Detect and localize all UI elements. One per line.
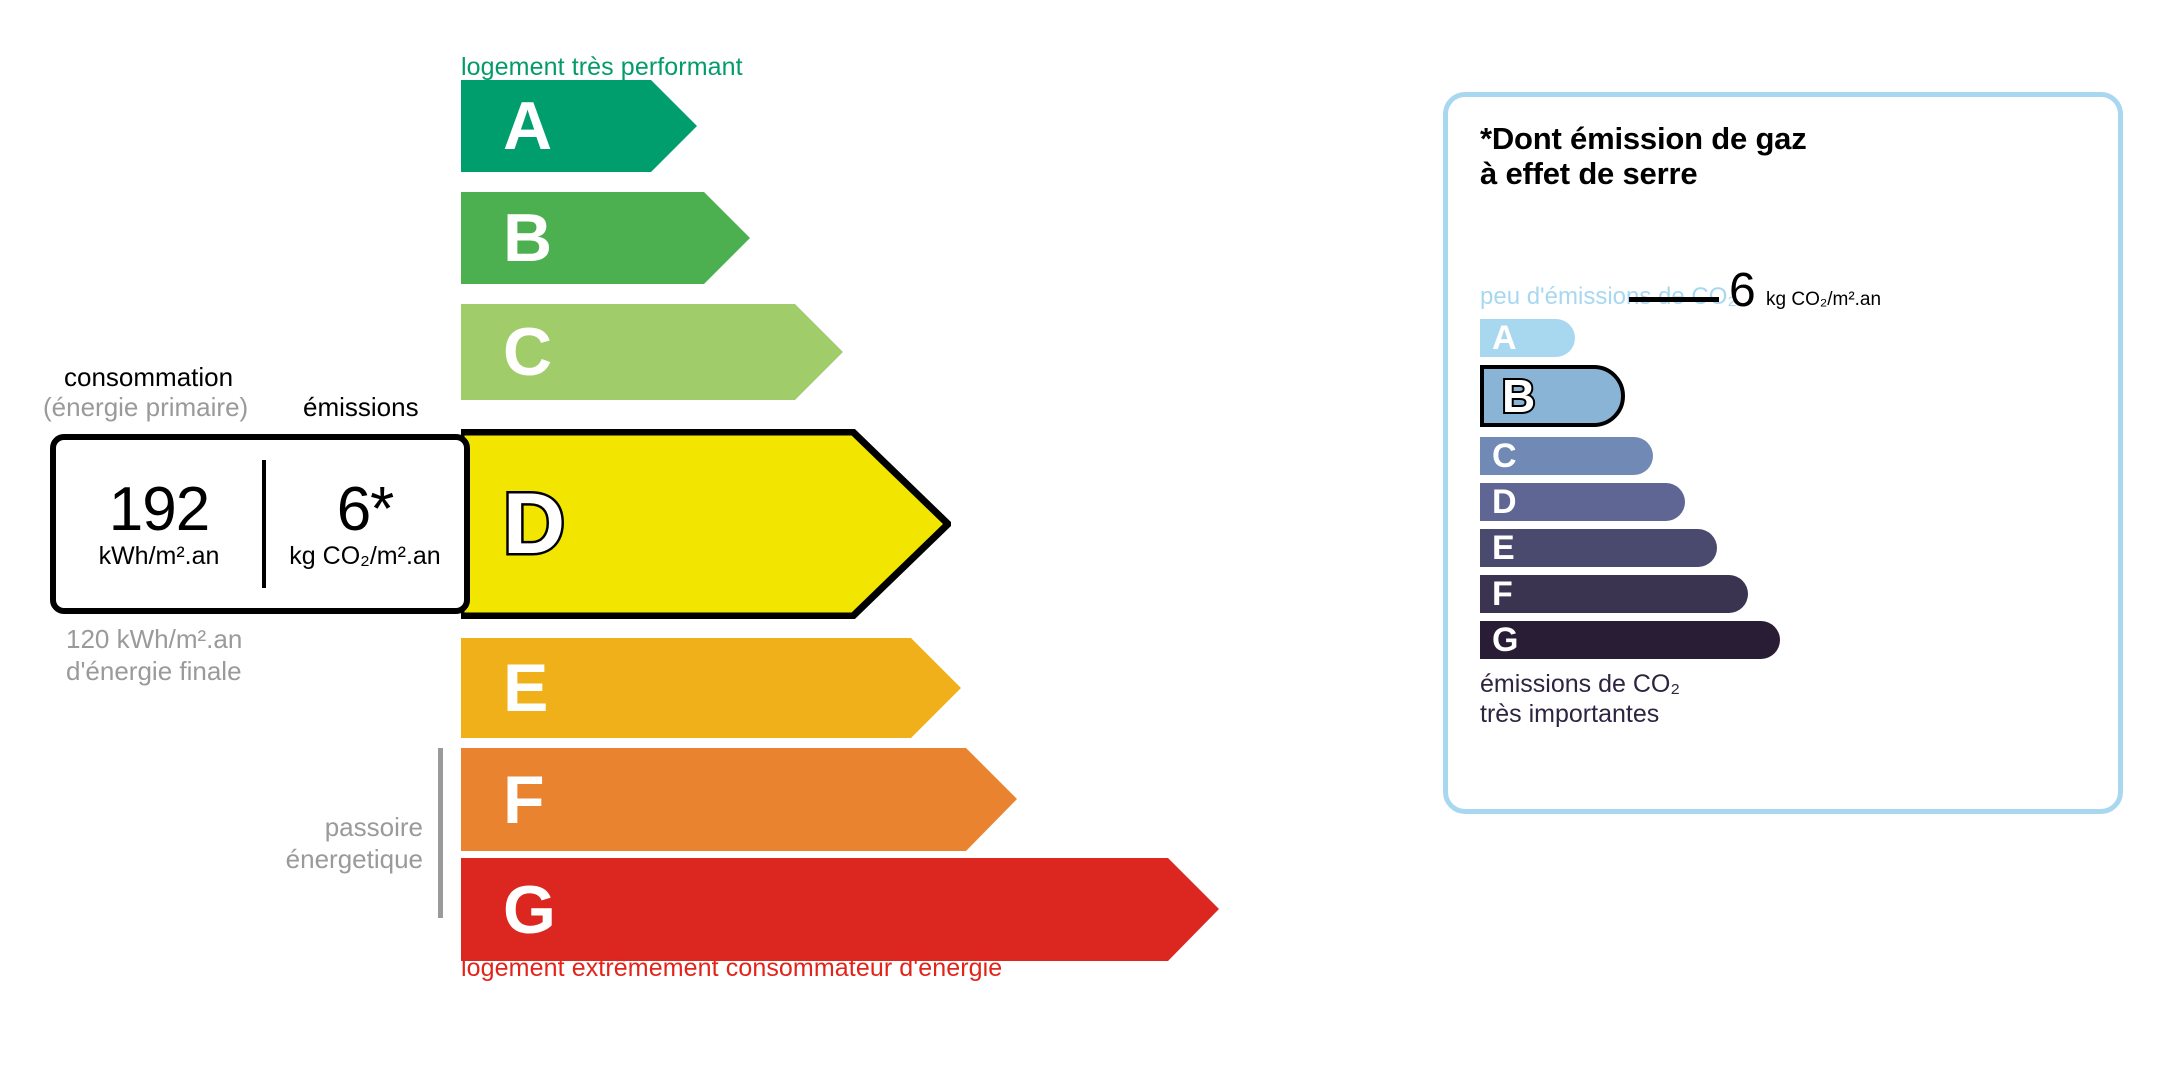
co2-bottom-line1: émissions de CO₂ <box>1480 669 1680 699</box>
label-consommation: consommation <box>64 362 233 393</box>
final-energy-note: 120 kWh/m².an d'énergie finale <box>66 624 242 687</box>
energy-row-b[interactable]: B <box>461 192 750 284</box>
co2-row-letter-c: C <box>1492 439 1517 473</box>
final-energy-line1: 120 kWh/m².an <box>66 624 242 656</box>
co2-row-letter-d: D <box>1492 485 1517 519</box>
passoire-line1: passoire <box>268 812 423 844</box>
energy-row-g[interactable]: G <box>461 858 1219 961</box>
co2-row-letter-g: G <box>1492 623 1518 657</box>
co2-title-line2: à effet de serre <box>1480 157 1807 192</box>
co2-row-c[interactable]: C <box>1480 437 1653 475</box>
emission-value: 6* <box>266 478 464 541</box>
energy-row-letter-a: A <box>503 92 552 160</box>
energy-row-letter-c: C <box>503 318 552 386</box>
energy-row-letter-b: B <box>503 204 552 272</box>
co2-row-b-current[interactable]: B <box>1480 365 1625 427</box>
energy-scale-top-caption: logement très performant <box>461 53 743 82</box>
energy-row-letter-e: E <box>503 654 548 722</box>
co2-bar-b: B <box>1480 365 1625 427</box>
energy-row-c[interactable]: C <box>461 304 843 400</box>
co2-bar-d: D <box>1480 483 1685 521</box>
co2-bar-a: A <box>1480 319 1575 357</box>
emission-cell: 6* kg CO₂/m².an <box>266 478 464 571</box>
co2-bottom-line2: très importantes <box>1480 699 1680 729</box>
final-energy-line2: d'énergie finale <box>66 656 242 688</box>
energy-row-a[interactable]: A <box>461 80 697 172</box>
energy-row-letter-g: G <box>503 876 556 944</box>
consumption-unit: kWh/m².an <box>56 543 262 571</box>
energy-row-letter-f: F <box>503 766 545 834</box>
co2-row-f[interactable]: F <box>1480 575 1748 613</box>
arrow-shape-a <box>461 80 697 172</box>
consumption-cell: 192 kWh/m².an <box>56 478 262 571</box>
passoire-marker-bar <box>438 748 443 918</box>
emission-unit: kg CO₂/m².an <box>266 543 464 571</box>
label-emissions: émissions <box>303 392 419 423</box>
co2-row-d[interactable]: D <box>1480 483 1685 521</box>
co2-title-line1: *Dont émission de gaz <box>1480 122 1807 157</box>
co2-bar-g: G <box>1480 621 1780 659</box>
co2-leader-line <box>1629 297 1719 302</box>
co2-row-a[interactable]: A <box>1480 319 1575 357</box>
arrow-shape-g <box>461 858 1219 961</box>
consumption-value: 192 <box>56 478 262 541</box>
co2-panel-title: *Dont émission de gaz à effet de serre <box>1480 122 1807 191</box>
co2-row-g[interactable]: G <box>1480 621 1780 659</box>
co2-bar-e: E <box>1480 529 1717 567</box>
passoire-label: passoire énergetique <box>268 812 423 875</box>
co2-row-letter-e: E <box>1492 531 1515 565</box>
co2-bar-f: F <box>1480 575 1748 613</box>
label-energie-primaire: (énergie primaire) <box>43 392 248 423</box>
co2-value: 6 <box>1729 267 1756 315</box>
co2-row-letter-b: B <box>1502 373 1535 419</box>
co2-row-letter-f: F <box>1492 577 1513 611</box>
energy-row-f[interactable]: F <box>461 748 1017 851</box>
energy-scale-bottom-caption: logement extrêmement consommateur d'éner… <box>461 954 1002 983</box>
passoire-line2: énergetique <box>268 844 423 876</box>
energy-row-d-current[interactable]: D <box>461 429 951 619</box>
dpe-diagram: logement très performant A B C D E <box>0 0 2170 1079</box>
co2-value-unit: kg CO₂/m².an <box>1766 289 1881 311</box>
co2-row-e[interactable]: E <box>1480 529 1717 567</box>
value-box: 192 kWh/m².an 6* kg CO₂/m².an <box>50 434 470 614</box>
co2-bar-c: C <box>1480 437 1653 475</box>
energy-row-e[interactable]: E <box>461 638 961 738</box>
energy-row-letter-d: D <box>503 481 565 567</box>
co2-panel: *Dont émission de gaz à effet de serre p… <box>1443 92 2123 814</box>
co2-row-letter-a: A <box>1492 321 1517 355</box>
co2-bottom-caption: émissions de CO₂ très importantes <box>1480 669 1680 729</box>
